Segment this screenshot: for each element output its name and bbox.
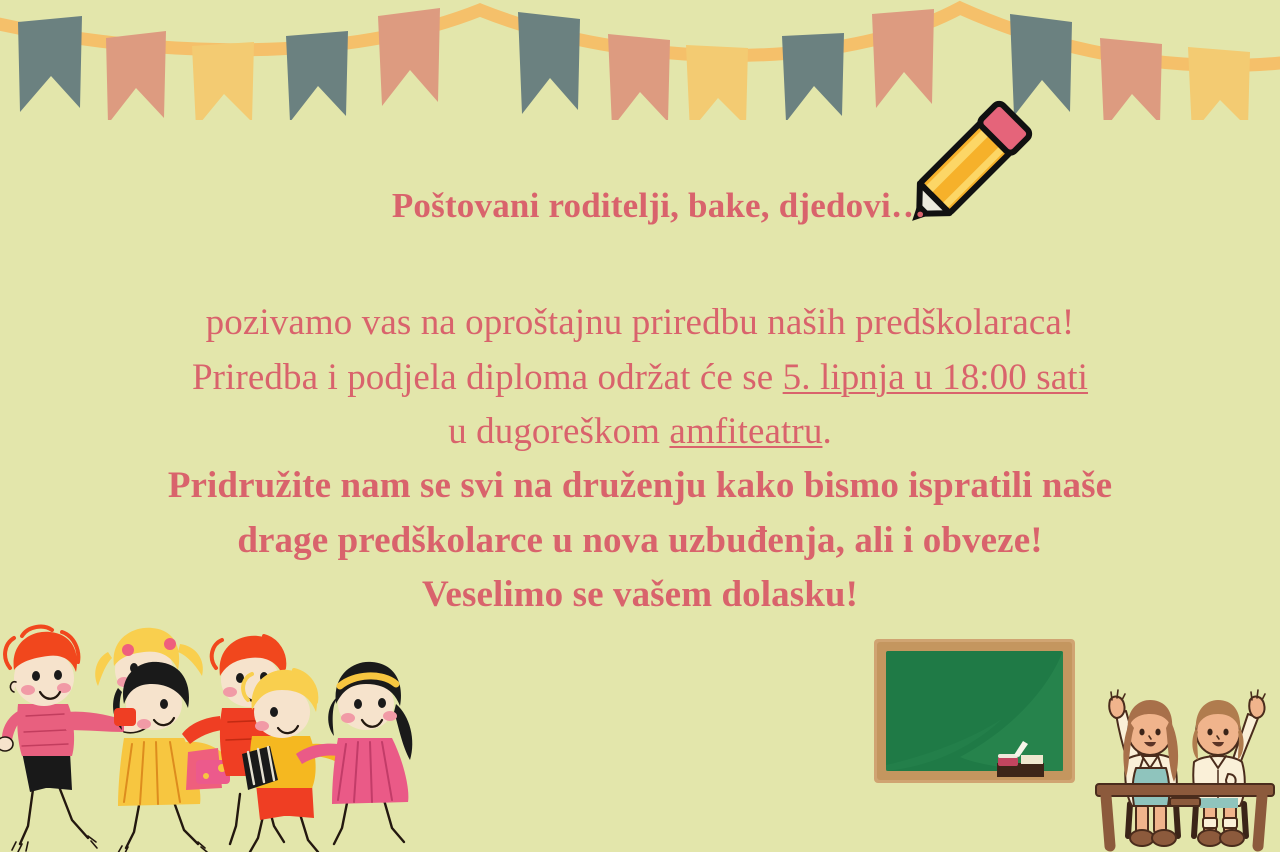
flag-8 xyxy=(686,45,748,120)
bunting-banner xyxy=(0,0,1280,120)
line-4: Pridružite nam se svi na druženju kako b… xyxy=(0,459,1280,513)
flag-13 xyxy=(1188,47,1250,120)
flag-9 xyxy=(782,33,844,120)
line-2-date-underlined: 5. lipnja u 18:00 sati xyxy=(783,357,1088,398)
poster-canvas: Poštovani roditelji, bake, djedovi… pozi… xyxy=(0,0,1280,852)
students-raising-hands-illustration xyxy=(1092,686,1278,852)
body-lines: pozivamo vas na oproštajnu priredbu naši… xyxy=(0,296,1280,622)
line-2: Priredba i podjela diploma održat će se … xyxy=(0,351,1280,405)
flag-12 xyxy=(1100,38,1162,120)
chalk-stick-box xyxy=(1021,755,1043,764)
line-5: drage predškolarce u nova uzbuđenja, ali… xyxy=(0,514,1280,568)
flag-3 xyxy=(192,42,254,120)
line-3-venue-underlined: amfiteatru xyxy=(669,411,822,452)
line-3: u dugoreškom amfiteatru. xyxy=(0,405,1280,459)
invitation-text-block: Poštovani roditelji, bake, djedovi… pozi… xyxy=(0,186,1280,623)
line-2-prefix: Priredba i podjela diploma održat će se xyxy=(192,357,783,398)
flag-1 xyxy=(18,16,82,112)
line-3-prefix: u dugoreškom xyxy=(448,411,669,452)
line-1: pozivamo vas na oproštajnu priredbu naši… xyxy=(0,296,1280,350)
student-left xyxy=(1109,690,1178,846)
board-eraser xyxy=(998,757,1018,766)
bunting-flags xyxy=(18,8,1250,120)
line-3-suffix: . xyxy=(822,411,831,452)
flag-4 xyxy=(286,31,348,120)
children-dancing-illustration xyxy=(0,612,442,852)
flag-5 xyxy=(378,8,440,106)
flag-2 xyxy=(106,31,166,120)
flag-7 xyxy=(608,34,670,120)
chalkboard-illustration xyxy=(872,637,1077,795)
greeting-line: Poštovani roditelji, bake, djedovi… xyxy=(0,186,1280,226)
student-right xyxy=(1192,690,1265,846)
flag-6 xyxy=(518,12,580,114)
flag-10 xyxy=(872,9,934,108)
hair-clip xyxy=(114,708,136,726)
